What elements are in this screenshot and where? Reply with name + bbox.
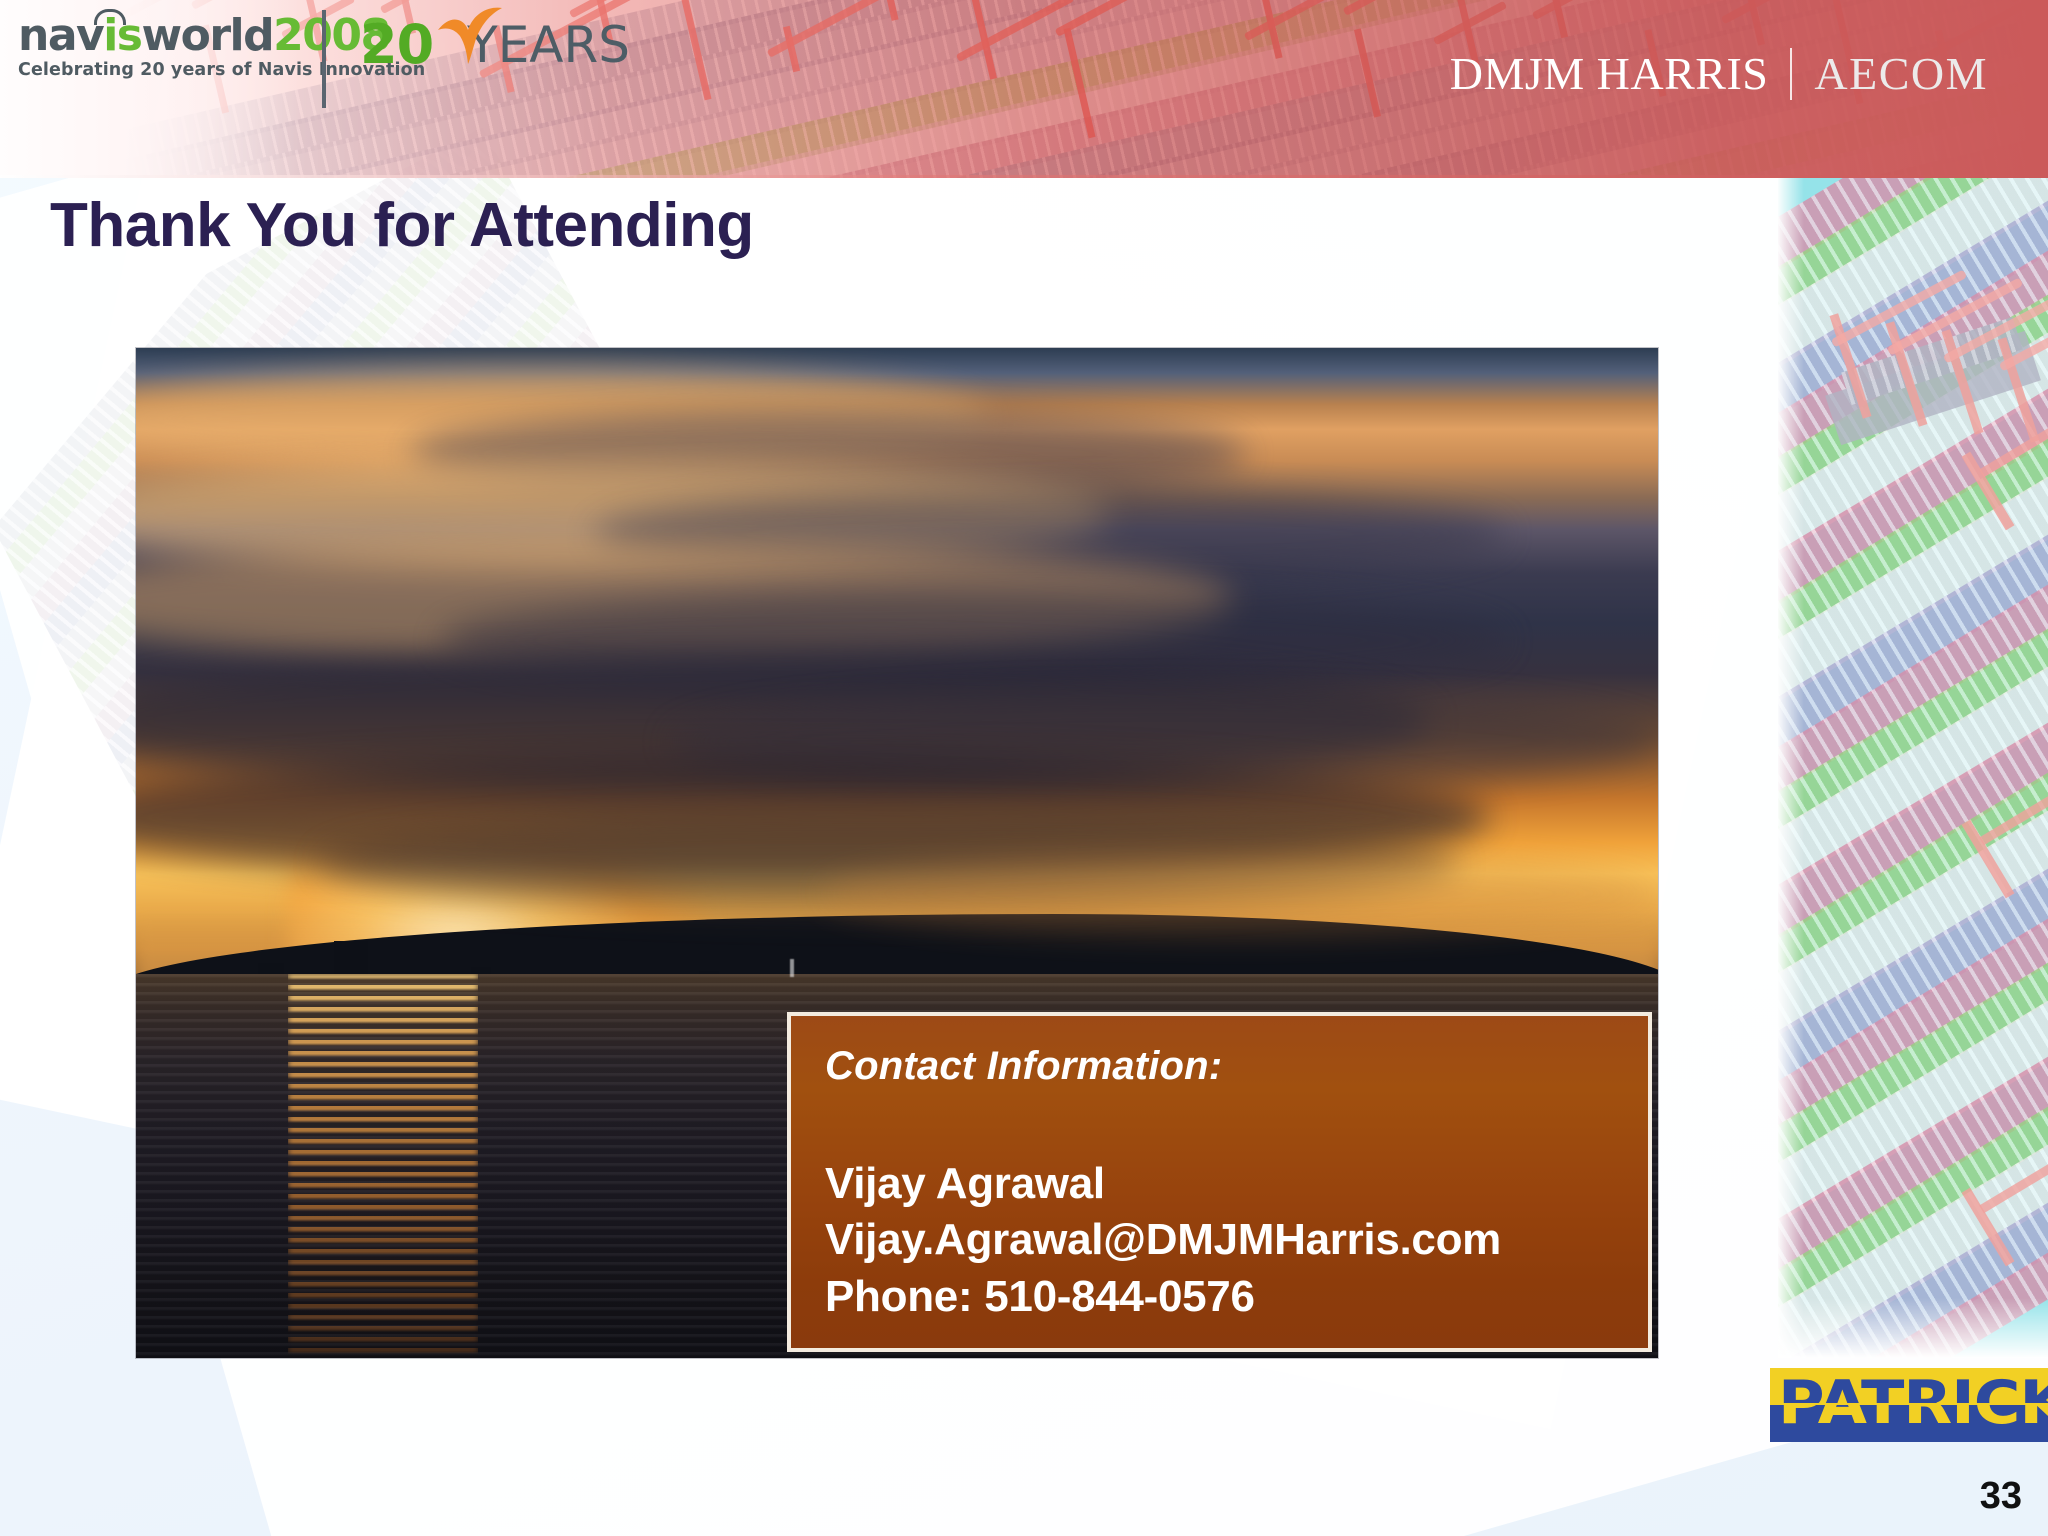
navis-word-part1: nav: [18, 10, 103, 61]
presentation-slide: navisworld2008 Celebrating 20 years of N…: [0, 0, 2048, 1536]
patrick-logo: PATRICK PATRICK: [1770, 1368, 2048, 1442]
aecom-text: AECOM: [1814, 51, 1988, 97]
twenty-years-logo: 20YEARS: [360, 18, 630, 72]
photo-sun-reflection: [288, 974, 478, 1358]
contact-heading: Contact Information:: [825, 1042, 1614, 1090]
contact-email: Vijay.Agrawal@DMJMHarris.com: [825, 1212, 1614, 1268]
photo-sailboat: [790, 959, 794, 977]
cloud-band: [821, 853, 1658, 934]
page-title: Thank You for Attending: [50, 190, 754, 261]
terminal-left-fade: [1778, 178, 1804, 1358]
contact-name: Vijay Agrawal: [825, 1156, 1614, 1212]
contact-details: Vijay Agrawal Vijay.Agrawal@DMJMHarris.c…: [825, 1156, 1614, 1325]
years-word: YEARS: [467, 16, 630, 74]
page-number: 33: [1980, 1475, 2022, 1518]
terminal-bottom-fade: [1778, 1298, 2048, 1358]
navis-word-part3: world: [141, 10, 273, 61]
header-bottom-rule: [0, 175, 2048, 178]
contact-information-box: Contact Information: Vijay Agrawal Vijay…: [787, 1012, 1652, 1352]
terminal-illustration-panel: [1778, 178, 2048, 1358]
header-logo-divider: [322, 10, 326, 108]
terminal-white-wash: [1778, 178, 2048, 1358]
brand-logo-divider: [1790, 48, 1792, 100]
contact-phone: Phone: 510-844-0576: [825, 1269, 1614, 1325]
dmjm-harris-text: DMJM HARRIS: [1450, 51, 1769, 97]
years-number: 20: [360, 13, 433, 76]
dmjm-harris-aecom-logo: DMJM HARRIS AECOM: [1450, 48, 1988, 100]
